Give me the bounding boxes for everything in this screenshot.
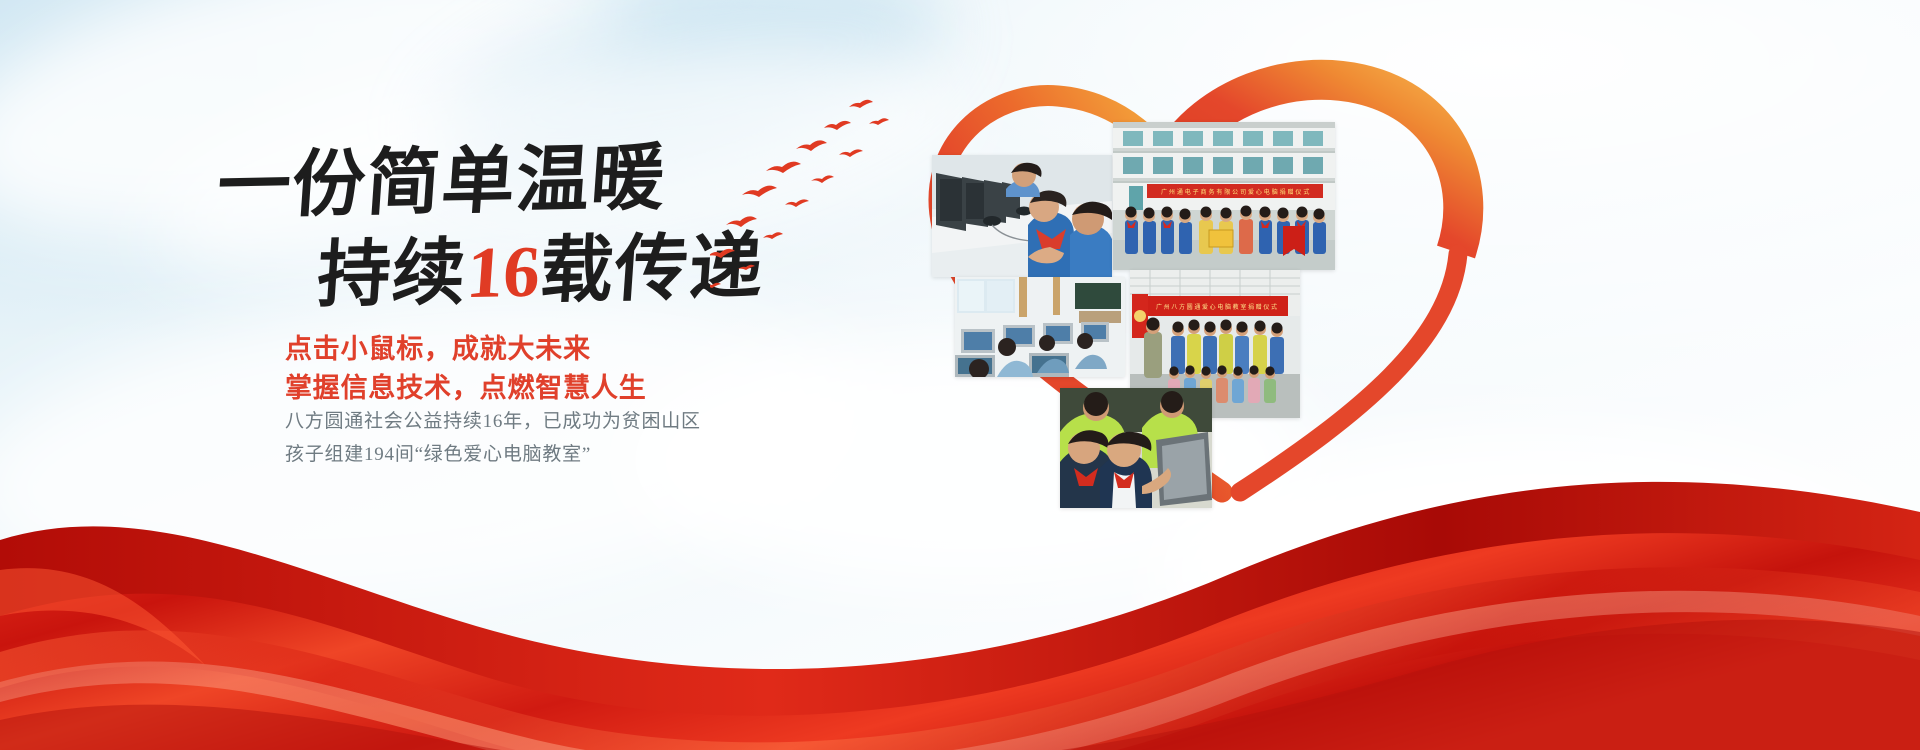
- banner-description: 八方圆通社会公益持续16年，已成功为贫困山区 孩子组建194间“绿色爱心电脑教室…: [285, 405, 701, 472]
- description-line-1: 八方圆通社会公益持续16年，已成功为贫困山区: [285, 405, 701, 438]
- photo-computer-lab-students: [932, 155, 1112, 277]
- photo-classroom-wide: [955, 277, 1125, 377]
- description-line-2: 孩子组建194间“绿色爱心电脑教室”: [285, 438, 701, 471]
- public-welfare-banner: 一份简单温暖 持续16载传递 点击小鼠标，成就大未来 掌握信息技术，点燃智慧人生…: [0, 0, 1920, 750]
- slogan-line-2: 掌握信息技术，点燃智慧人生: [285, 369, 647, 408]
- banner-slogan: 点击小鼠标，成就大未来 掌握信息技术，点燃智慧人生: [285, 330, 647, 408]
- headline-years-number: 16: [464, 231, 543, 313]
- photo-collage: 广 州 通 电 子 商 务 有 限 公 司 爱 心 电 脑 捐 赠 仪 式: [820, 40, 1580, 530]
- svg-text:广 州 八 方 圆 通 爱 心 电 脑 教 室 捐 赠 仪: 广 州 八 方 圆 通 爱 心 电 脑 教 室 捐 赠 仪 式: [1156, 303, 1277, 311]
- heart-photo-collage: 广 州 通 电 子 商 务 有 限 公 司 爱 心 电 脑 捐 赠 仪 式: [820, 40, 1580, 530]
- headline-line-2-prefix: 持续: [315, 232, 470, 316]
- svg-text:广 州 通 电 子 商 务 有 限 公 司 爱 心 电 脑: 广 州 通 电 子 商 务 有 限 公 司 爱 心 电 脑 捐 赠 仪 式: [1161, 188, 1309, 196]
- slogan-line-1: 点击小鼠标，成就大未来: [285, 330, 647, 369]
- photo-school-donation-ceremony: 广 州 通 电 子 商 务 有 限 公 司 爱 心 电 脑 捐 赠 仪 式: [1113, 122, 1335, 270]
- photo-boys-at-monitor: [1060, 388, 1212, 508]
